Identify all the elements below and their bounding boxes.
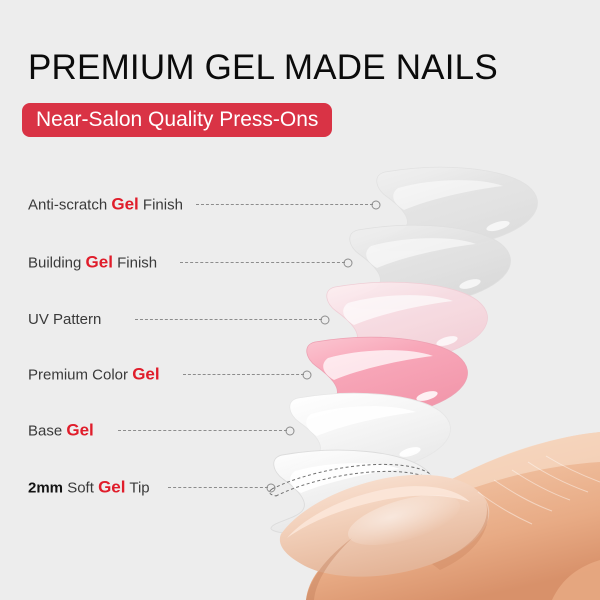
subtitle-badge: Near-Salon Quality Press-Ons — [22, 103, 332, 137]
leader-line-uv-pattern — [135, 319, 322, 321]
product-infographic: PREMIUM GEL MADE NAILS Near-Salon Qualit… — [0, 0, 600, 600]
fingertip-photo — [280, 432, 600, 600]
leader-endpoint-uv-pattern — [321, 316, 330, 325]
callout-segment: Building — [28, 255, 86, 272]
leader-endpoint-2mm-soft-gel-tip — [267, 484, 276, 493]
leader-endpoint-anti-scratch-gel-finish — [372, 201, 381, 210]
callout-segment: UV Pattern — [28, 311, 101, 328]
callout-segment: Gel — [98, 478, 125, 497]
callout-label-uv-pattern: UV Pattern — [28, 311, 101, 329]
callout-segment: Gel — [132, 365, 159, 384]
layer-uv-pattern — [324, 282, 488, 366]
callout-label-base-gel: Base Gel — [28, 422, 94, 441]
leader-line-2mm-soft-gel-tip — [168, 487, 268, 489]
callout-segment: Tip — [125, 480, 149, 497]
layer-soft-gel-tip — [269, 450, 434, 534]
layer-anti-scratch-gel-finish — [374, 167, 538, 251]
leader-line-premium-color-gel — [183, 374, 304, 376]
callout-segment: Finish — [139, 197, 183, 214]
nail-layer-artwork — [0, 0, 600, 600]
callout-segment: Gel — [66, 421, 93, 440]
callout-segment: Anti-scratch — [28, 197, 111, 214]
callout-segment: Base — [28, 423, 66, 440]
page-title: PREMIUM GEL MADE NAILS — [28, 47, 498, 89]
layer-premium-color-gel — [304, 337, 468, 421]
layer-building-gel-finish — [347, 225, 511, 309]
callout-segment: 2mm — [28, 480, 63, 497]
callout-label-anti-scratch-gel-finish: Anti-scratch Gel Finish — [28, 196, 183, 215]
leader-line-base-gel — [118, 430, 287, 432]
callout-label-2mm-soft-gel-tip: 2mm Soft Gel Tip — [28, 479, 150, 498]
callout-segment: Finish — [113, 255, 157, 272]
callout-label-premium-color-gel: Premium Color Gel — [28, 366, 160, 385]
leader-endpoint-premium-color-gel — [303, 371, 312, 380]
leader-line-building-gel-finish — [180, 262, 345, 264]
leader-line-anti-scratch-gel-finish — [196, 204, 373, 206]
leader-endpoint-base-gel — [286, 427, 295, 436]
callout-label-building-gel-finish: Building Gel Finish — [28, 254, 157, 273]
layer-base-gel — [287, 393, 451, 477]
leader-endpoint-building-gel-finish — [344, 259, 353, 268]
callout-segment: Premium Color — [28, 367, 132, 384]
callout-segment: Gel — [111, 195, 138, 214]
callout-segment: Gel — [86, 253, 113, 272]
callout-segment: Soft — [63, 480, 98, 497]
